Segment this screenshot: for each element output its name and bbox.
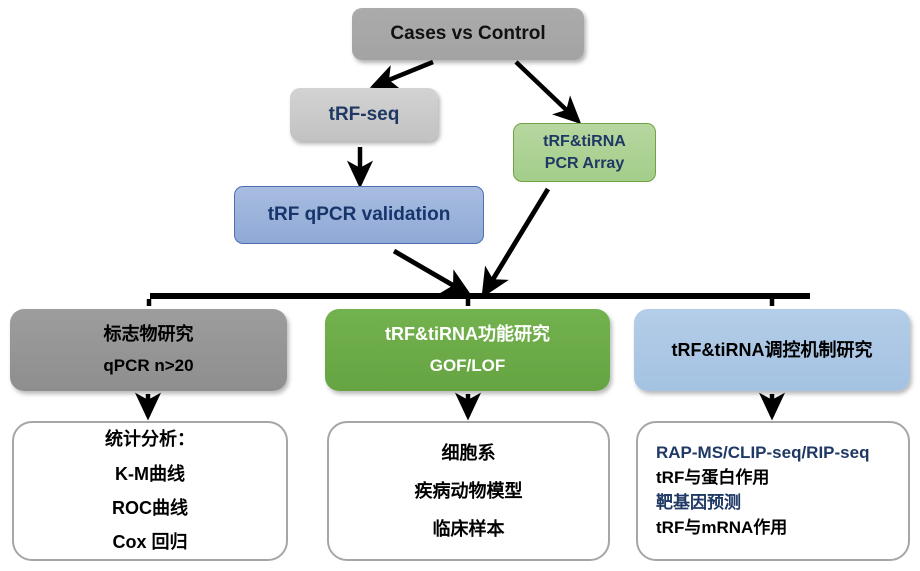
detail-1-row-2: K-M曲线	[115, 462, 185, 486]
node-category-biomarker-research[interactable]: 标志物研究 qPCR n>20	[10, 309, 287, 391]
arrow-cases-to-pcrarray	[516, 62, 578, 121]
category-3-line1: tRF&tiRNA调控机制研究	[672, 338, 873, 362]
node-pcr-array-line1: tRF&tiRNA	[543, 131, 626, 153]
detail-1-row-1: 统计分析：	[105, 427, 195, 451]
detail-3-row-2: tRF与蛋白作用	[638, 467, 769, 490]
detail-3-row-4: tRF与mRNA作用	[638, 517, 787, 540]
node-pcr-array-line2: PCR Array	[545, 153, 624, 175]
category-2-line1: tRF&tiRNA功能研究	[385, 322, 550, 346]
node-trf-tirna-pcr-array[interactable]: tRF&tiRNA PCR Array	[513, 123, 656, 182]
detail-1-row-4: Cox 回归	[112, 530, 187, 554]
detail-3-row-3: 靶基因预测	[638, 492, 741, 515]
node-trf-qpcr-validation[interactable]: tRF qPCR validation	[234, 186, 484, 244]
arrow-pcrarray-to-divider	[484, 189, 548, 294]
category-2-line2: GOF/LOF	[430, 355, 506, 378]
node-trf-seq[interactable]: tRF-seq	[290, 88, 438, 141]
detail-2-row-1: 细胞系	[442, 441, 496, 465]
node-trf-seq-label: tRF-seq	[329, 102, 400, 128]
arrow-cases-to-trfseq	[374, 62, 433, 86]
detail-2-row-2: 疾病动物模型	[415, 479, 523, 503]
node-category-regulatory-mechanism-research[interactable]: tRF&tiRNA调控机制研究	[634, 309, 910, 391]
arrow-qpcr-to-divider	[394, 251, 468, 294]
detail-1-row-3: ROC曲线	[112, 496, 188, 520]
node-detail-mechanism-methods[interactable]: RAP-MS/CLIP-seq/RIP-seq tRF与蛋白作用 靶基因预测 t…	[636, 421, 910, 561]
node-category-functional-research[interactable]: tRF&tiRNA功能研究 GOF/LOF	[325, 309, 610, 391]
flowchart-canvas: Cases vs Control tRF-seq tRF&tiRNA PCR A…	[0, 0, 920, 571]
node-detail-experimental-models[interactable]: 细胞系 疾病动物模型 临床样本	[327, 421, 610, 561]
node-cases-vs-control[interactable]: Cases vs Control	[352, 8, 584, 60]
detail-3-row-1: RAP-MS/CLIP-seq/RIP-seq	[638, 442, 869, 465]
category-1-line2: qPCR n>20	[103, 355, 193, 378]
node-cases-vs-control-label: Cases vs Control	[390, 21, 545, 47]
node-detail-statistical-analysis[interactable]: 统计分析： K-M曲线 ROC曲线 Cox 回归	[12, 421, 288, 561]
detail-2-row-3: 临床样本	[433, 517, 505, 541]
node-trf-qpcr-validation-label: tRF qPCR validation	[268, 202, 451, 228]
category-1-line1: 标志物研究	[104, 322, 194, 346]
